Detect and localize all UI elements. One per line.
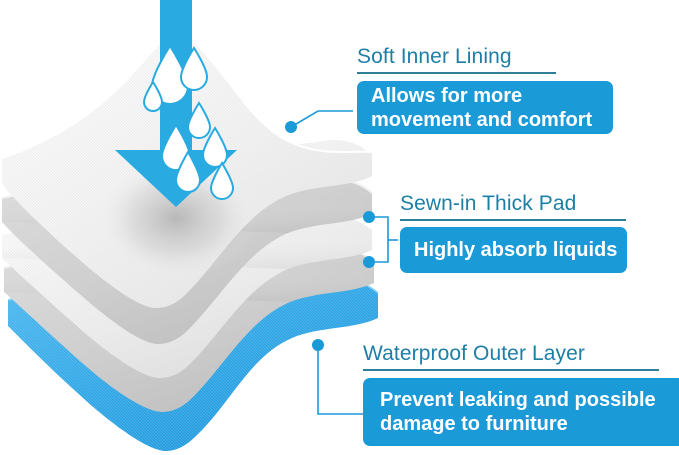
connector-dot bbox=[363, 211, 375, 223]
connector-dot bbox=[312, 339, 324, 351]
callout-description-box: Highly absorb liquids bbox=[400, 227, 627, 273]
connector-dot bbox=[363, 256, 375, 268]
callout-line: damage to furniture bbox=[380, 412, 656, 436]
connector-dot bbox=[285, 121, 297, 133]
callout-line: movement and comfort bbox=[371, 108, 592, 132]
callout-underline bbox=[363, 369, 659, 371]
callout-description-box: Prevent leaking and possible damage to f… bbox=[363, 378, 679, 446]
callout-underline bbox=[357, 72, 556, 74]
callout-title: Sewn-in Thick Pad bbox=[400, 192, 627, 216]
connector-soft-inner-lining bbox=[285, 111, 353, 133]
callout-soft-inner-lining: Soft Inner Lining Allows for more moveme… bbox=[357, 45, 613, 134]
callout-waterproof-outer-layer: Waterproof Outer Layer Prevent leaking a… bbox=[363, 342, 679, 446]
callout-title: Waterproof Outer Layer bbox=[363, 342, 679, 366]
callout-title: Soft Inner Lining bbox=[357, 45, 613, 69]
callout-description-box: Allows for more movement and comfort bbox=[357, 81, 613, 134]
callout-sewn-in-thick-pad: Sewn-in Thick Pad Highly absorb liquids bbox=[400, 192, 627, 273]
callout-line: Highly absorb liquids bbox=[414, 238, 617, 262]
callout-line: Allows for more bbox=[371, 84, 592, 108]
connector-waterproof-outer-layer bbox=[312, 339, 363, 414]
infographic-canvas: Soft Inner Lining Allows for more moveme… bbox=[0, 0, 679, 455]
callout-underline bbox=[400, 219, 626, 221]
callout-line: Prevent leaking and possible bbox=[380, 388, 656, 412]
